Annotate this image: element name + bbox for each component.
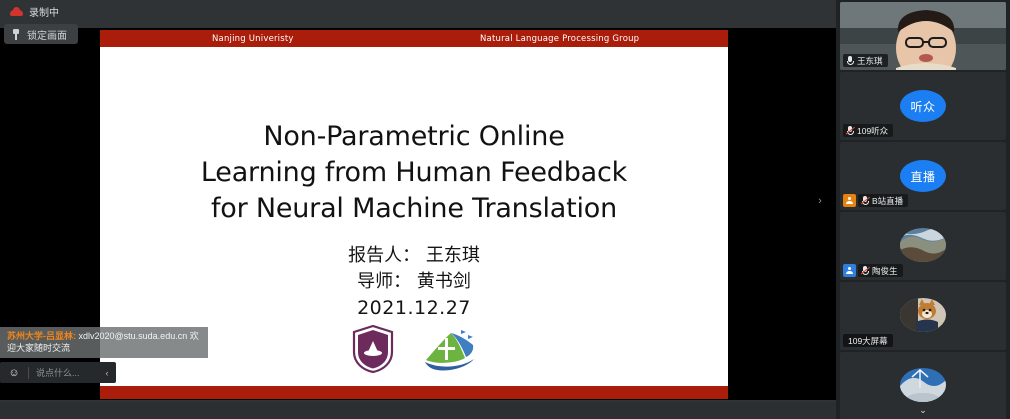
participant-badges: B站直播 <box>843 194 908 207</box>
lock-screen-label: 锁定画面 <box>27 27 67 42</box>
participant-badges: 陶俊生 <box>843 264 903 277</box>
audience-circle: 听众 <box>900 90 946 122</box>
lock-screen-button[interactable]: 锁定画面 <box>4 24 78 44</box>
chat-message: 苏州大学-吕显林: xdlv2020@stu.suda.edu.cn 欢迎大家随… <box>0 327 208 358</box>
chat-collapse-icon[interactable]: ‹ <box>98 368 116 378</box>
meeting-window: 录制中 锁定画面 Nanjing Univeristy Natural Lang… <box>0 0 1010 419</box>
avatar <box>900 228 946 262</box>
participant-label: 109大屏幕 <box>843 334 893 347</box>
cloud-record-icon <box>10 7 23 16</box>
slide-header-left: Nanjing Univeristy <box>212 34 294 44</box>
slide-title-line2: Learning from Human Feedback <box>100 155 728 191</box>
slide-advisor: 导师： 黄书剑 <box>100 269 728 295</box>
livestream-circle: 直播 <box>900 160 946 192</box>
participant-name: 王东琪 <box>857 55 883 67</box>
participant-label: B站直播 <box>858 194 908 207</box>
host-badge-icon <box>843 194 856 207</box>
participant-tile-taojunsheng[interactable]: 陶俊生 <box>840 212 1006 280</box>
microphone-icon <box>846 56 854 66</box>
slide-date: 2021.12.27 <box>100 297 728 319</box>
smiley-icon[interactable]: ☺ <box>0 367 28 379</box>
participant-name: 109听众 <box>857 125 888 137</box>
microphone-muted-icon <box>846 126 854 136</box>
slide-presenter: 报告人： 王东琪 <box>100 243 728 269</box>
chat-input-bar[interactable]: ☺ 说点什么... ‹ <box>0 362 116 383</box>
slide-footer-bar <box>100 386 728 399</box>
slide-header-right: Natural Language Processing Group <box>480 34 639 44</box>
participant-label: 陶俊生 <box>858 264 903 277</box>
participant-name: 109大屏幕 <box>848 335 888 347</box>
avatar <box>900 368 946 402</box>
chat-input[interactable]: 说点什么... <box>29 366 98 379</box>
participant-tile-audience[interactable]: 听众 109听众 <box>840 72 1006 140</box>
next-panel-arrow-icon[interactable]: › <box>814 188 826 214</box>
avatar-image <box>900 368 946 402</box>
scroll-down-icon[interactable]: ⌄ <box>919 405 927 416</box>
microphone-muted-icon <box>861 266 869 276</box>
slide-title-line1: Non-Parametric Online <box>100 119 728 155</box>
slide-title: Non-Parametric Online Learning from Huma… <box>100 119 728 227</box>
chat-overlay: 苏州大学-吕显林: xdlv2020@stu.suda.edu.cn 欢迎大家随… <box>0 327 300 383</box>
participant-label: 王东琪 <box>843 54 888 67</box>
participant-tile-bigscreen[interactable]: 109大屏幕 <box>840 282 1006 350</box>
participant-name: 陶俊生 <box>872 265 898 277</box>
chat-message-user: 苏州大学-吕显林: <box>7 331 76 341</box>
nanjing-university-logo <box>351 325 395 373</box>
avatar-image <box>900 228 946 262</box>
avatar-image <box>900 298 946 332</box>
pin-icon <box>12 29 20 40</box>
presentation-stage: 录制中 锁定画面 Nanjing Univeristy Natural Lang… <box>0 0 836 402</box>
avatar <box>900 298 946 332</box>
participant-tile-livestream[interactable]: 直播 B站直播 <box>840 142 1006 210</box>
slide-title-line3: for Neural Machine Translation <box>100 191 728 227</box>
host-badge-icon <box>843 264 856 277</box>
nlp-group-logo <box>421 326 477 372</box>
microphone-muted-icon <box>861 196 869 206</box>
recording-label: 录制中 <box>29 4 59 19</box>
participant-name: B站直播 <box>872 195 903 207</box>
participant-tile-wangdongqi[interactable]: 王东琪 <box>840 2 1006 70</box>
recording-indicator: 录制中 <box>0 0 96 22</box>
participant-label: 109听众 <box>843 124 893 137</box>
participant-sidebar[interactable]: 王东琪 听众 109听众 直播 B站直播 <box>836 0 1010 419</box>
slide-header-bar: Nanjing Univeristy Natural Language Proc… <box>100 30 728 47</box>
participant-tile-next[interactable]: ⌄ <box>840 352 1006 419</box>
